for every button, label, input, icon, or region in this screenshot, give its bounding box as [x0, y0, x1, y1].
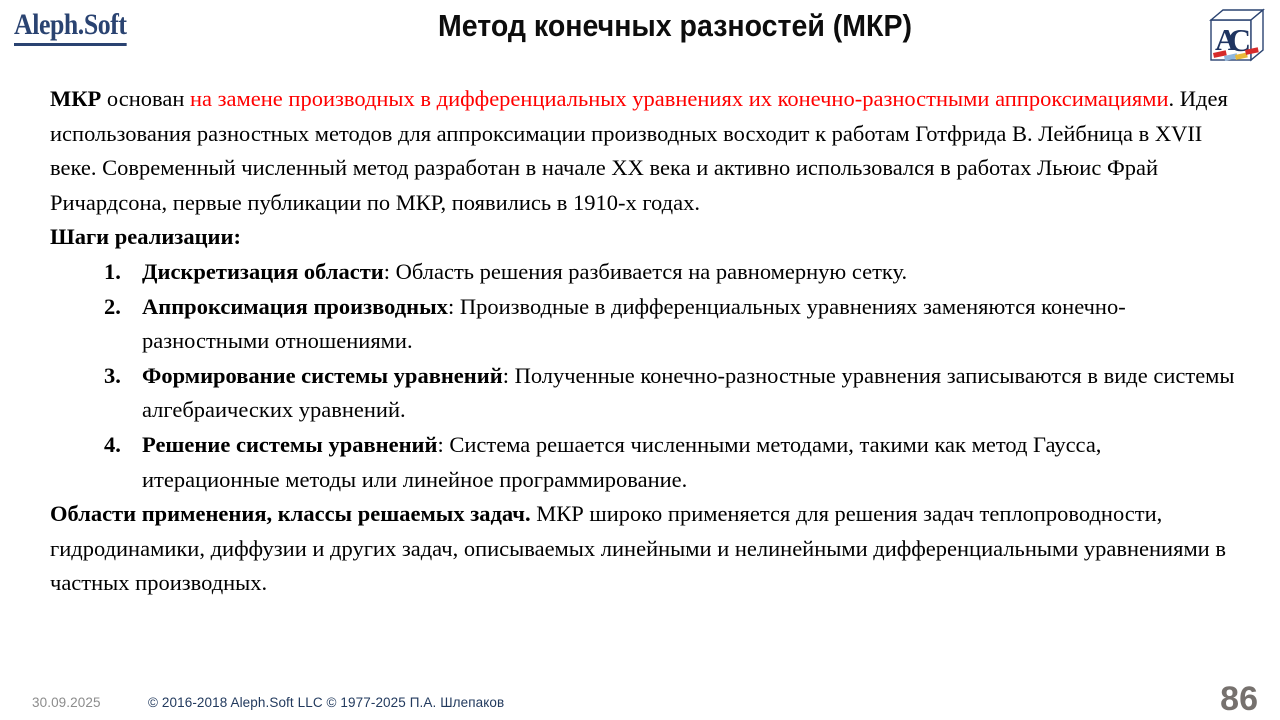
page-title: Метод конечных разностей (МКР) — [201, 6, 1149, 46]
list-item: Решение системы уравнений: Система решае… — [50, 428, 1240, 497]
step-term: Аппроксимация производных — [142, 294, 448, 319]
slide-footer: 30.09.2025 © 2016-2018 Aleph.Soft LLC © … — [0, 674, 1280, 720]
applications-paragraph: Области применения, классы решаемых зада… — [50, 497, 1240, 601]
step-term: Решение системы уравнений — [142, 432, 437, 457]
intro-highlight: на замене производных в дифференциальных… — [190, 86, 1169, 111]
page-number: 86 — [1220, 680, 1258, 718]
steps-list: Дискретизация области: Область решения р… — [50, 255, 1240, 497]
intro-connector: основан — [101, 86, 190, 111]
intro-lead-term: МКР — [50, 86, 101, 111]
step-term: Дискретизация области — [142, 259, 384, 284]
step-term: Формирование системы уравнений — [142, 363, 503, 388]
aleph-soft-cube-logo: A C — [1206, 6, 1268, 68]
slide-header: Aleph.Soft Метод конечных разностей (МКР… — [0, 0, 1280, 72]
steps-heading: Шаги реализации: — [50, 220, 1240, 255]
footer-copyright: © 2016-2018 Aleph.Soft LLC © 1977-2025 П… — [148, 695, 504, 710]
brand-logo-alephsoft: Aleph.Soft — [14, 8, 127, 46]
list-item: Аппроксимация производных: Производные в… — [50, 290, 1240, 359]
intro-paragraph: МКР основан на замене производных в дифф… — [50, 82, 1240, 220]
slide-content: МКР основан на замене производных в дифф… — [50, 82, 1240, 601]
step-text: : Область решения разбивается на равноме… — [384, 259, 907, 284]
cube-logo-svg: A C — [1206, 6, 1268, 68]
list-item: Дискретизация области: Область решения р… — [50, 255, 1240, 290]
applications-heading: Области применения, классы решаемых зада… — [50, 501, 531, 526]
list-item: Формирование системы уравнений: Полученн… — [50, 359, 1240, 428]
footer-date: 30.09.2025 — [32, 695, 101, 710]
